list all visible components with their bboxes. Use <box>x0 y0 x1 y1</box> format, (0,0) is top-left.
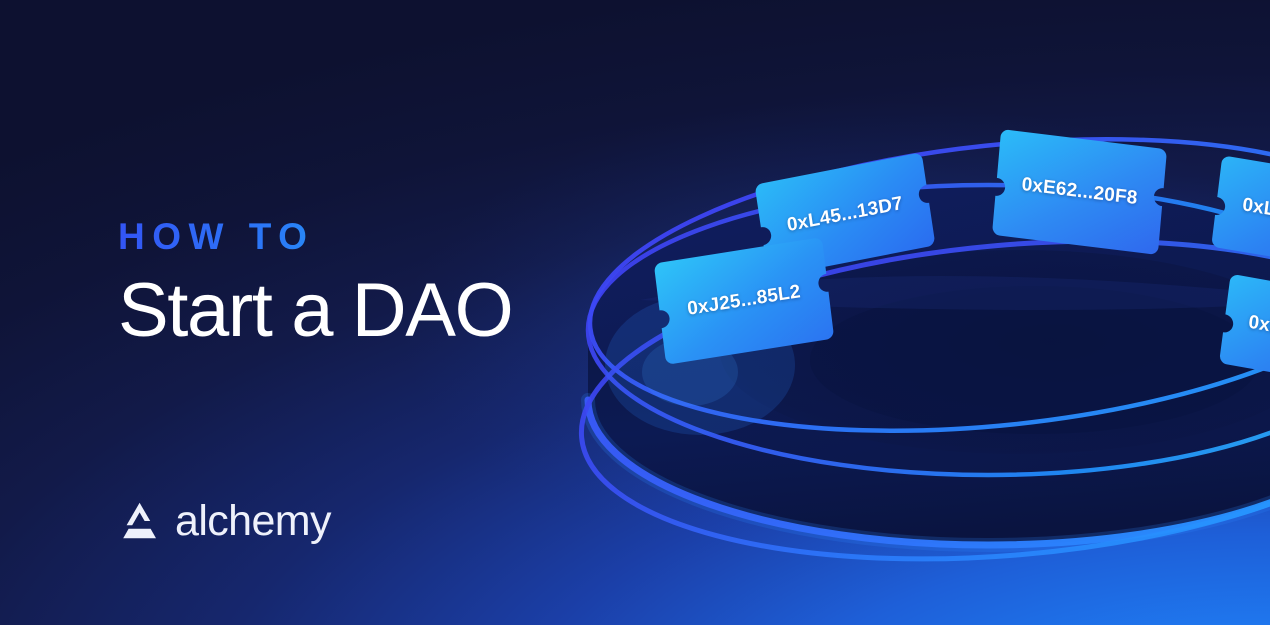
alchemy-wordmark: alchemy <box>175 500 331 543</box>
eyebrow-label: HOW TO <box>118 218 512 255</box>
page-title: Start a DAO <box>118 271 512 350</box>
address-card[interactable]: 0xL4 <box>1211 155 1270 266</box>
hero-text-block: HOW TO Start a DAO <box>118 218 512 350</box>
address-card[interactable]: 0xE62...20F8 <box>992 129 1167 255</box>
alchemy-logo[interactable]: alchemy <box>118 500 331 543</box>
alchemy-triangle-icon <box>118 502 162 542</box>
disc-bottom-rim <box>588 400 1270 545</box>
disc-side-wall <box>588 330 1270 545</box>
hero-banner: 0xL45...13D7 0xJ25...85L2 <box>0 0 1270 625</box>
disc-bottom-rim-glow <box>588 400 1270 545</box>
address-card[interactable]: 0xJ25...85L2 <box>654 237 834 365</box>
disc-crater-inner <box>810 286 1260 434</box>
address-card[interactable]: 0xB <box>1219 274 1270 384</box>
